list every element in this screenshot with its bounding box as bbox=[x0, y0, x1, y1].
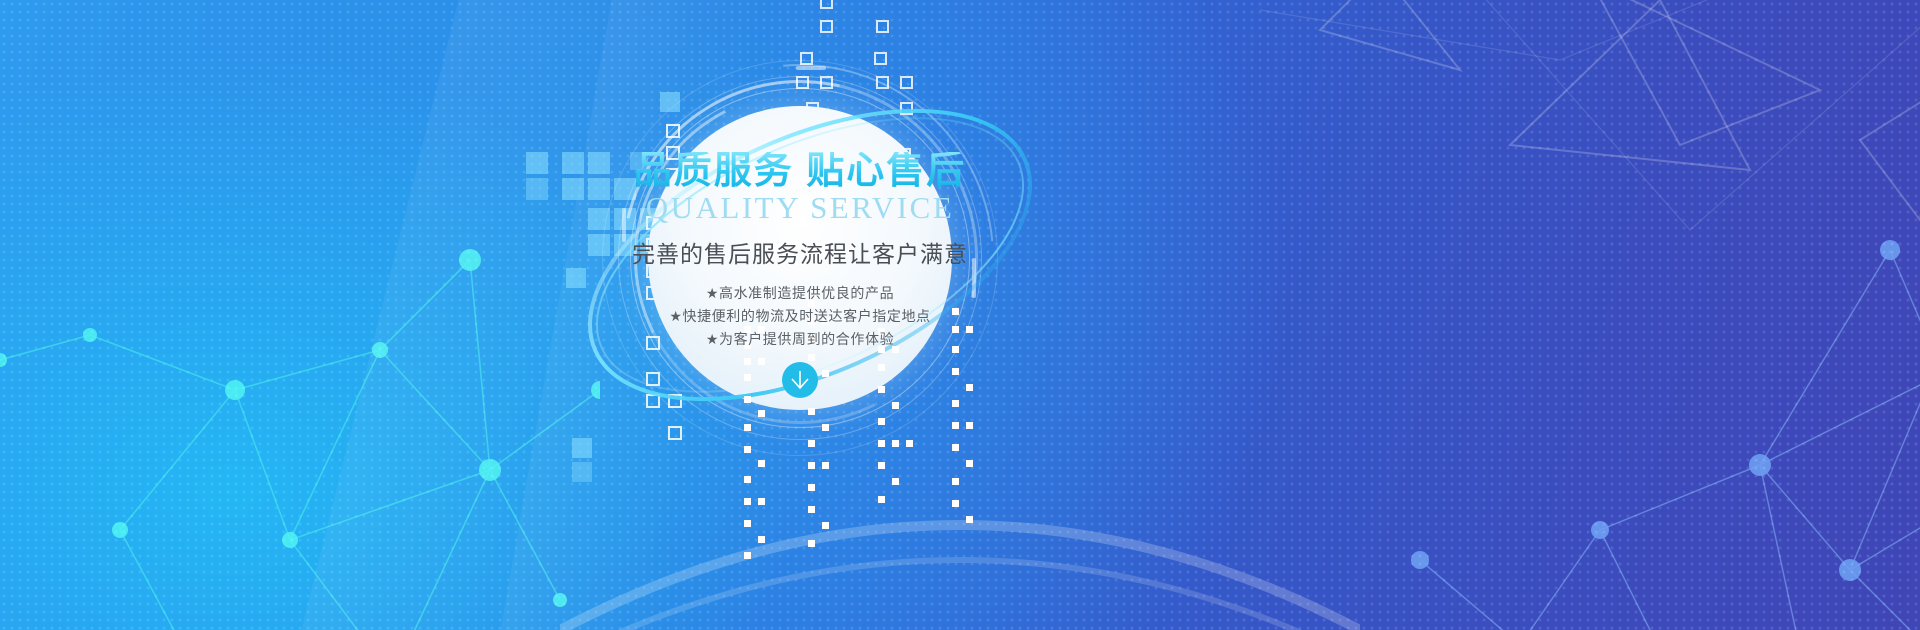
list-item: ★为客户提供周到的合作体验 bbox=[669, 332, 930, 346]
page-title-english: QUALITY SERVICE bbox=[646, 192, 955, 223]
list-item: ★高水准制造提供优良的产品 bbox=[669, 286, 930, 300]
scroll-down-button[interactable] bbox=[782, 362, 818, 398]
network-decoration-right bbox=[1330, 230, 1920, 630]
banner-subtitle: 完善的售后服务流程让客户满意 bbox=[632, 243, 968, 266]
page-title: 品质服务 贴心售后 bbox=[634, 152, 967, 190]
quality-service-banner: 品质服务 贴心售后 QUALITY SERVICE 完善的售后服务流程让客户满意… bbox=[0, 0, 1920, 630]
network-decoration-left bbox=[0, 240, 600, 630]
triangle-decoration bbox=[1260, 0, 1920, 270]
banner-content: 品质服务 贴心售后 QUALITY SERVICE 完善的售后服务流程让客户满意… bbox=[600, 58, 1000, 458]
bottom-arc-decoration bbox=[560, 450, 1360, 630]
arrow-down-icon bbox=[790, 369, 810, 391]
list-item: ★快捷便利的物流及时送达客户指定地点 bbox=[669, 309, 930, 323]
feature-list: ★高水准制造提供优良的产品 ★快捷便利的物流及时送达客户指定地点 ★为客户提供周… bbox=[669, 286, 930, 346]
